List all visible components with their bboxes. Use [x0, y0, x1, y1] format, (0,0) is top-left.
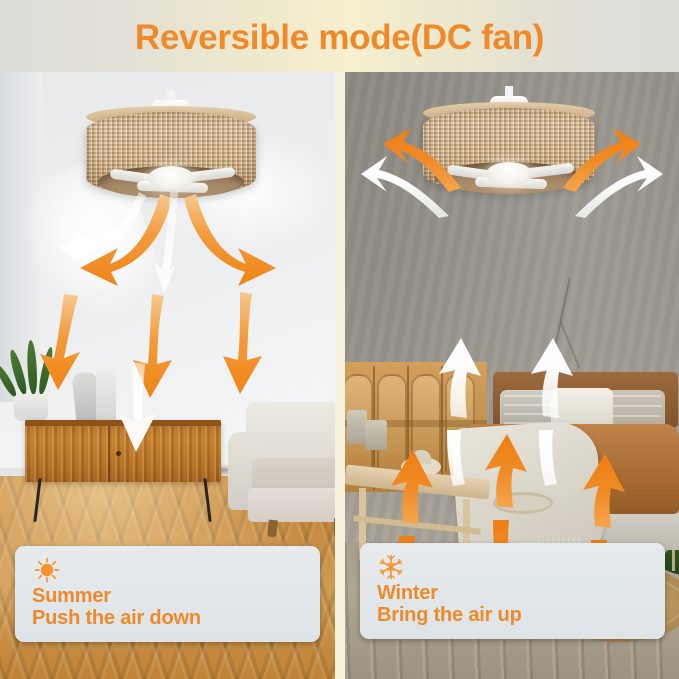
sun-icon	[32, 557, 306, 583]
arrow-orange-up-3	[583, 454, 625, 528]
credenza-knob	[116, 451, 121, 456]
arrow-orange-curved-right	[184, 194, 276, 286]
page-title: Reversible mode(DC fan)	[135, 20, 544, 55]
winter-card-title: Winter	[377, 582, 651, 604]
winter-card[interactable]: Winter Bring the air up	[360, 543, 665, 639]
arrow-white-up-1	[439, 338, 481, 418]
arrow-white-tail-1	[447, 430, 465, 486]
snowflake-icon	[377, 554, 651, 580]
winter-card-subtitle: Bring the air up	[377, 604, 651, 627]
arrow-orange-up-2	[485, 434, 527, 508]
product-feature-image: Reversible mode(DC fan)	[0, 0, 679, 679]
summer-card-title: Summer	[32, 585, 306, 607]
airflow-arrows-up	[345, 72, 679, 612]
credenza-door-seam	[108, 426, 110, 482]
arrow-white-tail-2	[539, 430, 557, 486]
armchair-leg	[334, 518, 335, 537]
armchair-leg	[267, 520, 278, 538]
arrow-orange-up-1	[391, 450, 433, 524]
header-banner: Reversible mode(DC fan)	[0, 0, 679, 72]
airflow-arrows-down	[0, 72, 335, 502]
arrow-orange-down-3	[223, 292, 262, 394]
summer-card[interactable]: Summer Push the air down	[15, 546, 320, 642]
arrow-orange-down-1	[40, 294, 80, 390]
summer-card-subtitle: Push the air down	[32, 607, 306, 630]
arrow-white-up-2	[531, 338, 573, 418]
